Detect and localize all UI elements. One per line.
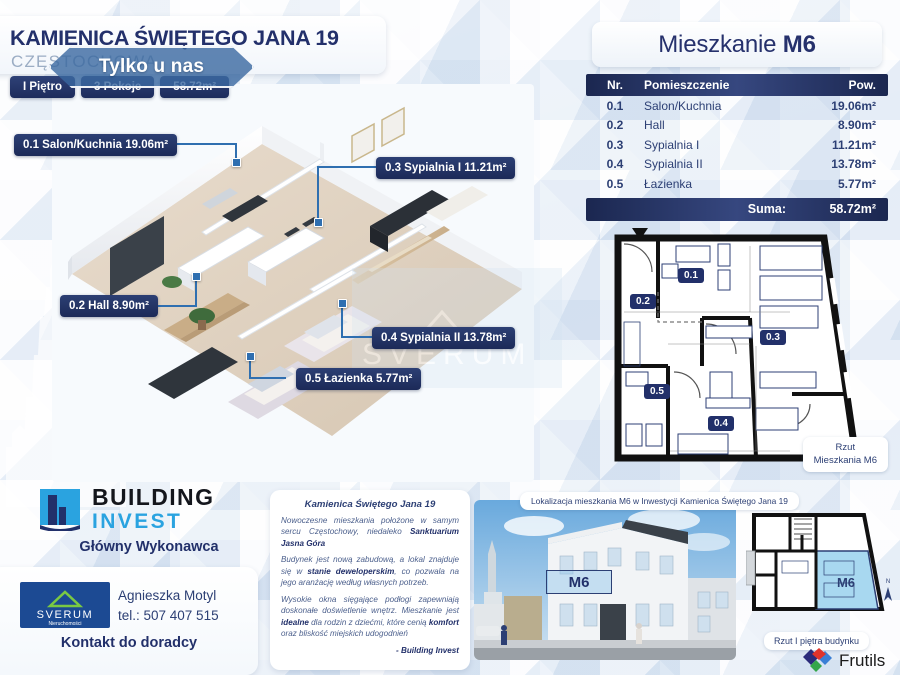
unit-title-code: M6 bbox=[783, 31, 816, 58]
callout-lazienka: 0.5 Łazienka 5.77m² bbox=[296, 368, 421, 390]
exclusive-ribbon: Tylko u nas bbox=[49, 46, 254, 88]
desc-p3-a: Wysokie okna sięgające podłogi zapewniaj… bbox=[281, 595, 459, 615]
cell-area: 11.21m² bbox=[796, 138, 888, 152]
callout-sypialnia-2: 0.4 Sypialnia II 13.78m² bbox=[372, 327, 515, 349]
cell-nr: 0.3 bbox=[586, 138, 644, 152]
callout-salon-kuchnia: 0.1 Salon/Kuchnia 19.06m² bbox=[14, 134, 177, 156]
building-invest-icon bbox=[38, 487, 82, 531]
table-row: 0.5 Łazienka 5.77m² bbox=[586, 174, 888, 194]
cell-name: Łazienka bbox=[644, 177, 796, 191]
description-card: Kamienica Świętego Jana 19 Nowoczesne mi… bbox=[270, 490, 470, 670]
location-unit-marker: M6 bbox=[546, 570, 612, 594]
plan-tag-0-2: 0.2 bbox=[630, 294, 656, 309]
cell-name: Hall bbox=[644, 118, 796, 132]
description-signature: - Building Invest bbox=[281, 645, 459, 656]
desc-p3-b: idealne bbox=[281, 618, 309, 627]
svg-text:Nieruchomości: Nieruchomości bbox=[48, 621, 81, 627]
sum-label: Suma: bbox=[586, 202, 796, 216]
location-caption: Lokalizacja mieszkania M6 w Inwestycji K… bbox=[520, 492, 799, 510]
col-header-area: Pow. bbox=[796, 78, 888, 92]
unit-title-card: Mieszkanie M6 bbox=[592, 22, 882, 67]
table-row: 0.4 Sypialnia II 13.78m² bbox=[586, 155, 888, 175]
plan-tag-0-1: 0.1 bbox=[678, 268, 704, 283]
cell-name: Sypialnia II bbox=[644, 157, 796, 171]
rooms-table: Nr. Pomieszczenie Pow. 0.1 Salon/Kuchnia… bbox=[586, 74, 888, 221]
table-row: 0.3 Sypialnia I 11.21m² bbox=[586, 135, 888, 155]
plan-tag-0-3: 0.3 bbox=[760, 330, 786, 345]
frutils-logo: Frutils bbox=[800, 648, 885, 674]
unit-floorplan: 0.1 0.2 0.3 0.4 0.5 Rzut Mieszkania M6 bbox=[610, 226, 892, 474]
frutils-diamonds-icon bbox=[800, 648, 834, 674]
unit-title-prefix: Mieszkanie bbox=[658, 31, 783, 58]
cell-area: 13.78m² bbox=[796, 157, 888, 171]
table-row: 0.2 Hall 8.90m² bbox=[586, 116, 888, 136]
svg-text:SVERUM: SVERUM bbox=[37, 609, 94, 621]
col-header-nr: Nr. bbox=[586, 78, 644, 92]
building-floorplan: M6 N bbox=[746, 505, 896, 627]
callout-dot-0-1 bbox=[232, 158, 241, 167]
building-plan-unit-marker: M6 bbox=[837, 575, 855, 590]
description-paragraph-2: Budynek jest nową zabudową, a lokal znaj… bbox=[281, 554, 459, 588]
developer-name-line1: BUILDING bbox=[92, 486, 214, 509]
desc-p3-c: dla rodzin z dziećmi, które cenią bbox=[309, 618, 429, 627]
sverum-logo: SVERUM Nieruchomości bbox=[20, 582, 110, 628]
contact-cta: Kontakt do doradcy bbox=[10, 635, 248, 651]
developer-role: Główny Wykonawca bbox=[46, 539, 252, 555]
description-heading: Kamienica Świętego Jana 19 bbox=[281, 499, 459, 510]
description-paragraph-3: Wysokie okna sięgające podłogi zapewniaj… bbox=[281, 594, 459, 640]
callout-dot-0-5 bbox=[246, 352, 255, 361]
table-header-row: Nr. Pomieszczenie Pow. bbox=[586, 74, 888, 96]
plan-caption-line2: Mieszkania M6 bbox=[814, 455, 877, 467]
table-row: 0.1 Salon/Kuchnia 19.06m² bbox=[586, 96, 888, 116]
callout-hall: 0.2 Hall 8.90m² bbox=[60, 295, 158, 317]
plan-tag-0-5: 0.5 bbox=[644, 384, 670, 399]
advisor-name: Agnieszka Motyl bbox=[118, 586, 219, 606]
unit-plan-caption: Rzut Mieszkania M6 bbox=[803, 437, 888, 472]
callout-sypialnia-1: 0.3 Sypialnia I 11.21m² bbox=[376, 157, 515, 179]
col-header-name: Pomieszczenie bbox=[644, 78, 796, 92]
cell-name: Salon/Kuchnia bbox=[644, 99, 796, 113]
desc-p2-b: stanie deweloperskim bbox=[307, 567, 394, 576]
desc-p3-e: oraz bliskość miejskich udogodnień bbox=[281, 629, 408, 638]
frutils-wordmark: Frutils bbox=[839, 651, 885, 671]
table-sum-row: Suma: 58.72m² bbox=[586, 198, 888, 221]
desc-p3-d: komfort bbox=[429, 618, 459, 627]
callout-dot-0-2 bbox=[192, 272, 201, 281]
description-paragraph-1: Nowoczesne mieszkania położone w samym s… bbox=[281, 515, 459, 549]
cell-nr: 0.1 bbox=[586, 99, 644, 113]
cell-name: Sypialnia I bbox=[644, 138, 796, 152]
sum-value: 58.72m² bbox=[796, 202, 888, 216]
cell-area: 8.90m² bbox=[796, 118, 888, 132]
compass-north-label: N bbox=[886, 579, 890, 585]
plan-caption-line1: Rzut bbox=[814, 442, 877, 454]
cell-nr: 0.2 bbox=[586, 118, 644, 132]
plan-tag-0-4: 0.4 bbox=[708, 416, 734, 431]
callout-dot-0-3 bbox=[314, 218, 323, 227]
advisor-phone[interactable]: tel.: 507 407 515 bbox=[118, 606, 219, 626]
building-invest-logo: BUILDING INVEST bbox=[38, 486, 214, 532]
advisor-info: Agnieszka Motyl tel.: 507 407 515 bbox=[118, 586, 219, 625]
developer-name-line2: INVEST bbox=[92, 511, 214, 532]
cell-nr: 0.4 bbox=[586, 157, 644, 171]
cell-nr: 0.5 bbox=[586, 177, 644, 191]
cell-area: 5.77m² bbox=[796, 177, 888, 191]
cell-area: 19.06m² bbox=[796, 99, 888, 113]
callout-dot-0-4 bbox=[338, 299, 347, 308]
